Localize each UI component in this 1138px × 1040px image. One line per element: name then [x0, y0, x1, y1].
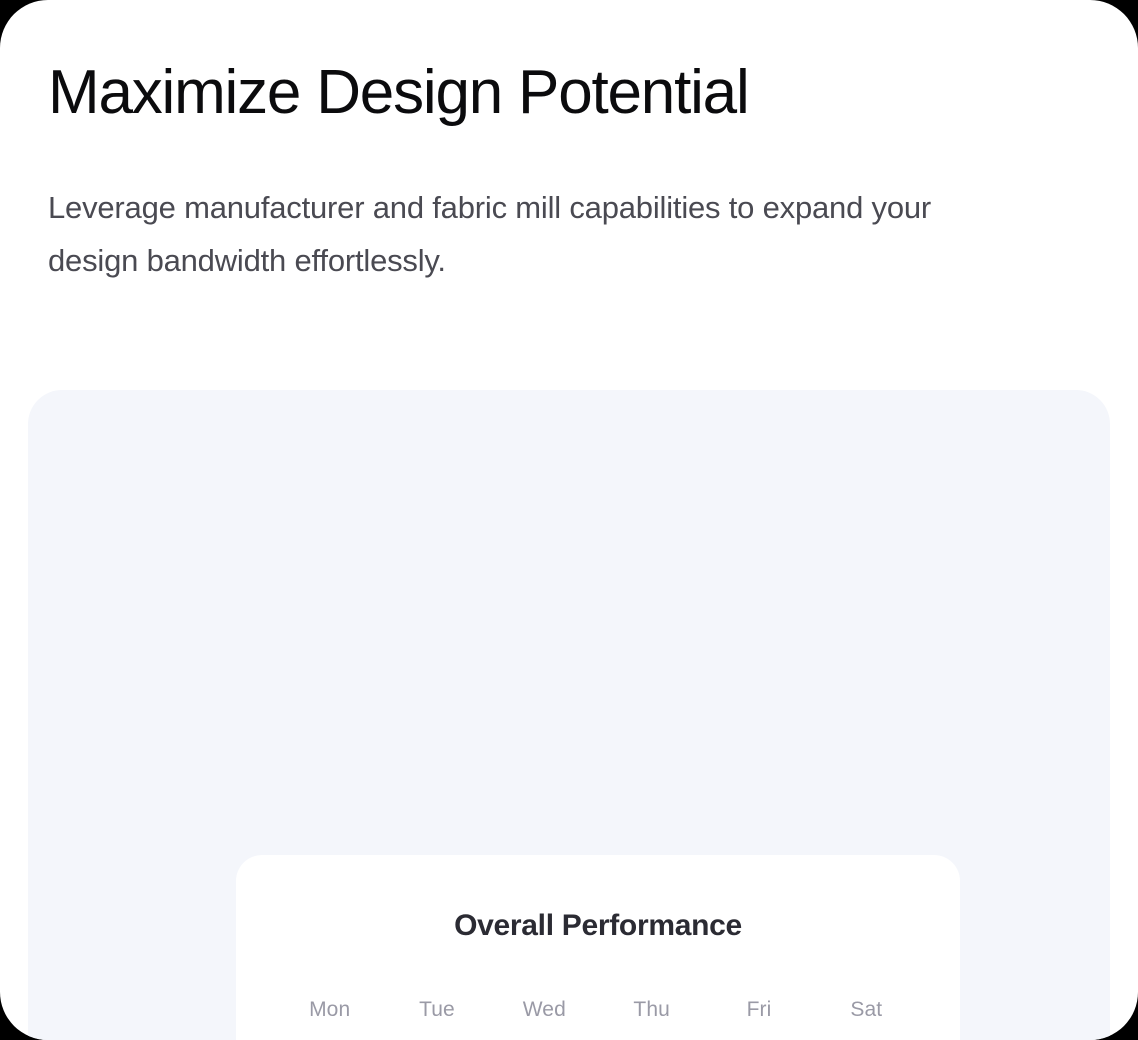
day-name-sat: Sat: [813, 998, 920, 1022]
day-name-thu: Thu: [598, 998, 705, 1022]
page-root: Maximize Design Potential Leverage manuf…: [0, 0, 1138, 1040]
page-title: Maximize Design Potential: [48, 62, 1058, 124]
day-selector[interactable]: Mon 10 Tue 11 Wed 12 Thu 13: [276, 998, 920, 1040]
chart-title: Overall Performance: [236, 909, 960, 943]
day-name-fri: Fri: [705, 998, 812, 1022]
showcase-panel: Overall Performance Mon 10 Tue 11 Wed 12: [28, 390, 1110, 1040]
day-column-mon[interactable]: Mon 10: [276, 998, 383, 1040]
day-name-tue: Tue: [383, 998, 490, 1022]
day-name-mon: Mon: [276, 998, 383, 1022]
day-column-sat[interactable]: Sat 15: [813, 998, 920, 1040]
day-column-tue[interactable]: Tue 11: [383, 998, 490, 1040]
day-name-wed: Wed: [491, 998, 598, 1022]
hero-section: Maximize Design Potential Leverage manuf…: [48, 62, 1058, 288]
day-column-fri[interactable]: Fri 14: [705, 998, 812, 1040]
day-column-thu[interactable]: Thu 13: [598, 998, 705, 1040]
page-subtitle: Leverage manufacturer and fabric mill ca…: [48, 181, 1023, 288]
performance-card: Overall Performance Mon 10 Tue 11 Wed 12: [236, 855, 960, 1040]
day-column-wed[interactable]: Wed 12: [491, 998, 598, 1040]
